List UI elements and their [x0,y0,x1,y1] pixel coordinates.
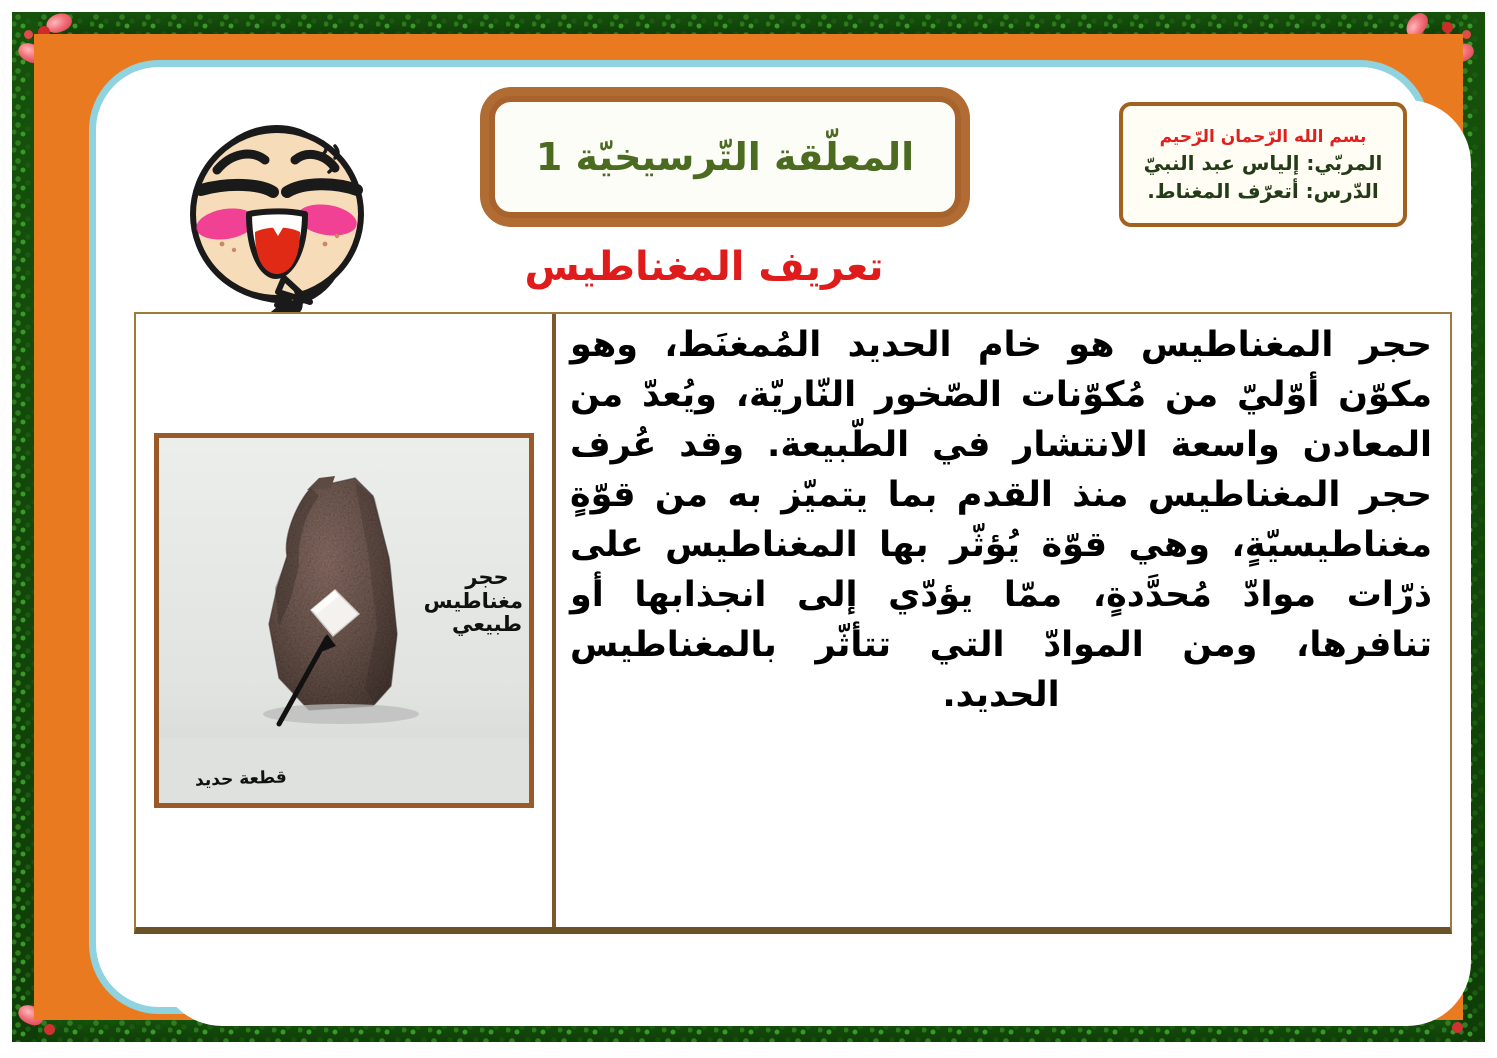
section-heading: تعريف المغناطيس [454,237,954,297]
orange-background-panel: المعلّقة التّرسيخيّة 1 بسم الله الرّحمان… [34,34,1463,1020]
definition-text-column: حجر المغناطيس هو خام الحديد المُمغنَط، و… [552,314,1450,927]
lesson-name-text: الدّرس: أتعرّف المغناط. [1135,179,1391,204]
definition-body-text: حجر المغناطيس هو خام الحديد المُمغنَط، و… [570,320,1432,720]
poster-title-box: المعلّقة التّرسيخيّة 1 [489,96,961,218]
page-title: المعلّقة التّرسيخيّة 1 [536,135,914,179]
garland-berry-icon [1442,22,1453,33]
garland-berry-icon [24,30,33,39]
illustration-column: حجر مغناطيس طبيعي قطعة حديد [136,314,552,927]
smiling-face-emoji-icon [177,86,382,316]
basmala-text: بسم الله الرّحمان الرّحيم [1135,127,1391,148]
garland-berry-icon [1452,1022,1463,1033]
garland-berry-icon [1462,30,1471,39]
teacher-name-text: المربّي: إلياس عبد النبيّ [1135,151,1391,176]
garland-berry-icon [44,1024,55,1035]
photo-label-iron: قطعة حديد [195,768,287,790]
magnet-stone-photo: حجر مغناطيس طبيعي قطعة حديد [154,433,534,808]
photo-label-stone: حجر مغناطيس طبيعي [451,566,523,637]
content-box: حجر المغناطيس هو خام الحديد المُمغنَط، و… [134,312,1452,934]
poster-canvas: المعلّقة التّرسيخيّة 1 بسم الله الرّحمان… [0,0,1497,1058]
lesson-info-box: بسم الله الرّحمان الرّحيم المربّي: إلياس… [1119,102,1407,227]
